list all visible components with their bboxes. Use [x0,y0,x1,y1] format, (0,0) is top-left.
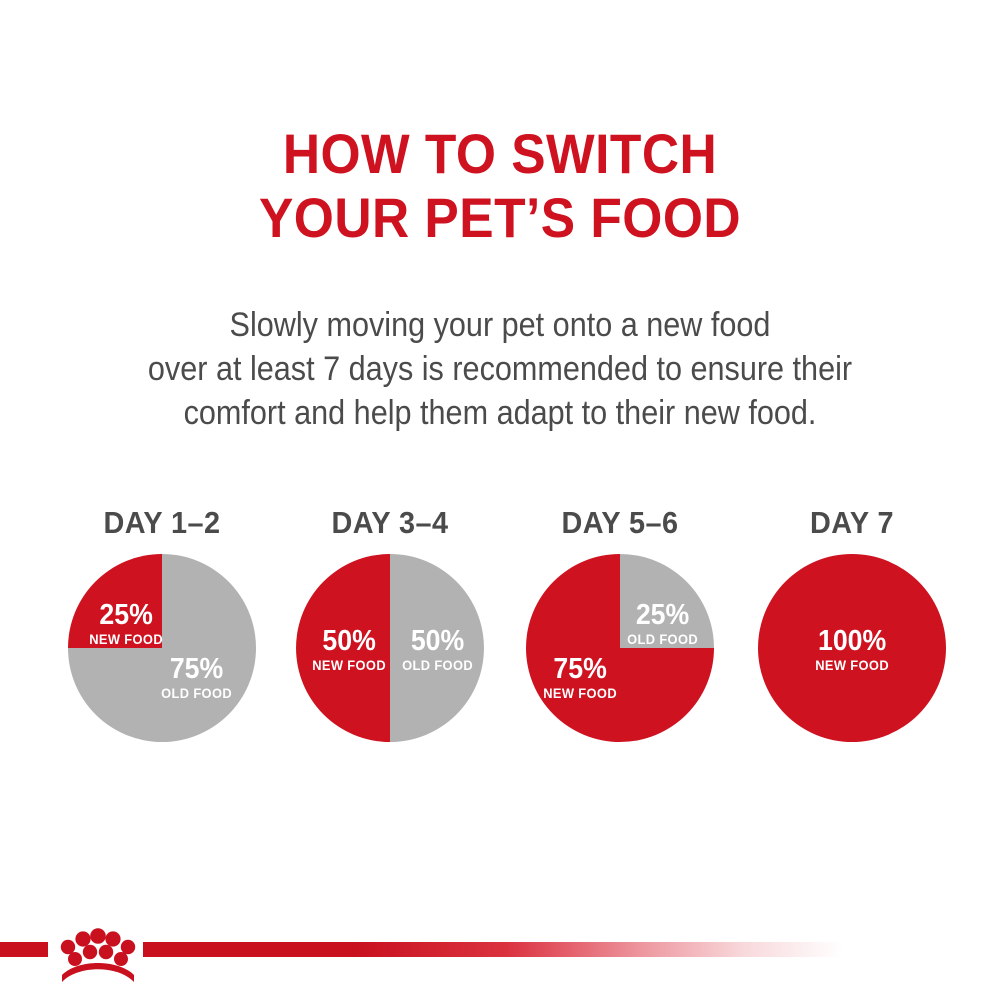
pie-day-label: DAY 7 [736,506,969,540]
pie-slice-old-food [620,554,714,648]
footer-bar-right [143,942,843,957]
pie-graphic: 25%NEW FOOD75%OLD FOOD [68,554,256,742]
royal-canin-crown-logo-icon [50,925,146,987]
pie-day-label: DAY 5–6 [504,506,737,540]
pie-chart-1: DAY 1–225%NEW FOOD75%OLD FOOD [37,506,287,766]
pie-slice-new-food [68,554,162,648]
pie-graphic: 100%NEW FOOD [758,554,946,742]
pie-slice-new-food [758,554,946,742]
page-title-line-2: YOUR PET’S FOOD [40,186,960,250]
pie-chart-2: DAY 3–450%NEW FOOD50%OLD FOOD [265,506,515,766]
pie-chart-3: DAY 5–675%NEW FOOD25%OLD FOOD [495,506,745,766]
body-line-2: over at least 7 days is recommended to e… [50,347,950,391]
pie-slice-new-food [296,554,390,742]
pie-day-label: DAY 1–2 [46,506,279,540]
footer [0,925,1000,1000]
body-line-3: comfort and help them adapt to their new… [50,391,950,435]
page-title-line-1: HOW TO SWITCH [40,122,960,186]
pie-chart-row: DAY 1–225%NEW FOOD75%OLD FOODDAY 3–450%N… [0,506,1000,766]
infographic-root: HOW TO SWITCH YOUR PET’S FOOD Slowly mov… [0,0,1000,1000]
footer-bar-left [0,942,48,957]
body-line-1: Slowly moving your pet onto a new food [50,303,950,347]
page-title: HOW TO SWITCH YOUR PET’S FOOD [0,122,1000,250]
pie-slice-old-food [390,554,484,742]
pie-graphic: 50%NEW FOOD50%OLD FOOD [296,554,484,742]
pie-graphic: 75%NEW FOOD25%OLD FOOD [526,554,714,742]
pie-day-label: DAY 3–4 [274,506,507,540]
body-paragraph: Slowly moving your pet onto a new food o… [0,303,1000,435]
pie-chart-4: DAY 7100%NEW FOOD [727,506,977,766]
